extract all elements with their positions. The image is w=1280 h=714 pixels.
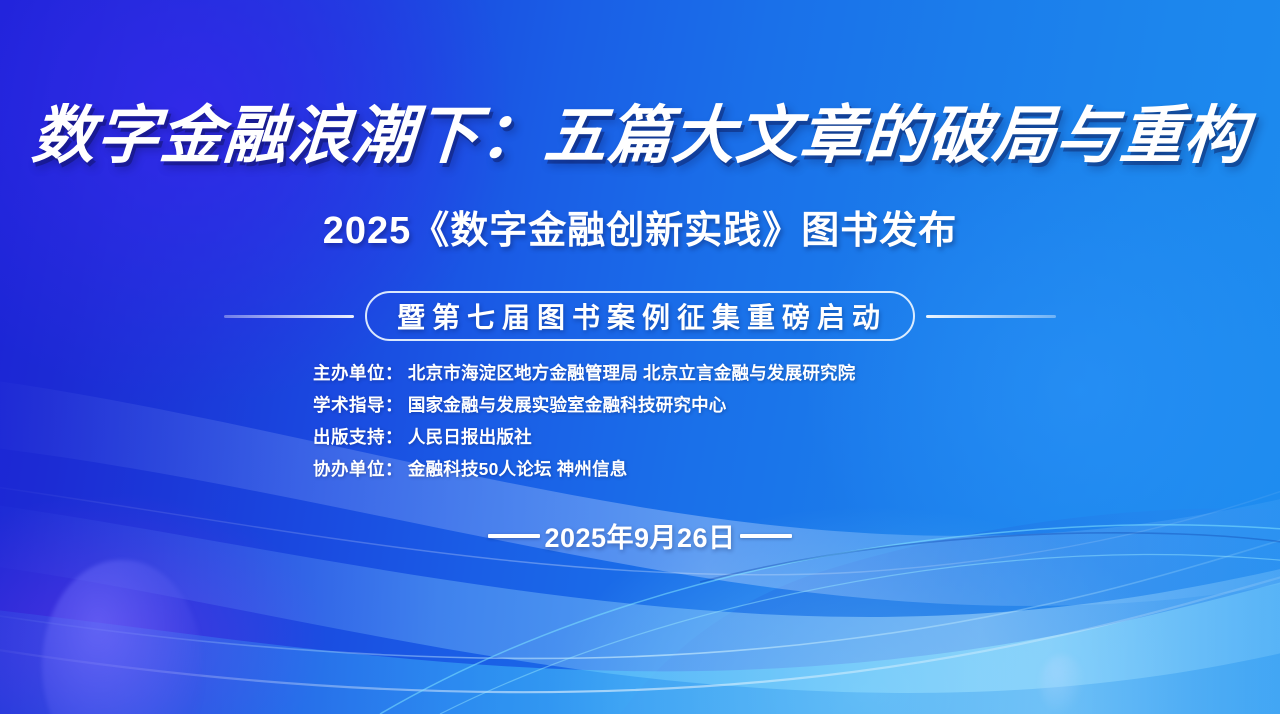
organizer-list: 主办单位： 北京市海淀区地方金融管理局 北京立言金融与发展研究院 学术指导： 国… <box>313 357 855 485</box>
event-date: 2025年9月26日 <box>542 516 737 555</box>
poster-content: 数字金融浪潮下：五篇大文章的破局与重构 2025《数字金融创新实践》图书发布 暨… <box>0 0 1280 714</box>
organizer-label: 学术指导： <box>313 395 403 415</box>
page-subtitle: 2025《数字金融创新实践》图书发布 <box>0 211 1280 253</box>
list-item: 协办单位： 金融科技50人论坛 神州信息 <box>313 453 855 485</box>
dash-right <box>740 534 792 538</box>
organizer-label: 主办单位： <box>313 363 403 383</box>
organizer-label: 出版支持： <box>313 427 403 447</box>
organizer-value: 国家金融与发展实验室金融科技研究中心 <box>408 395 727 415</box>
dash-left <box>488 534 540 538</box>
list-item: 学术指导： 国家金融与发展实验室金融科技研究中心 <box>313 389 855 421</box>
divider-line-left <box>224 315 354 318</box>
banner-pill-label: 暨第七届图书案例征集重磅启动 <box>393 296 887 336</box>
event-date-row: 2025年9月26日 <box>0 516 1280 555</box>
banner-pill: 暨第七届图书案例征集重磅启动 <box>365 291 915 341</box>
organizer-value: 金融科技50人论坛 神州信息 <box>408 459 628 479</box>
list-item: 主办单位： 北京市海淀区地方金融管理局 北京立言金融与发展研究院 <box>313 357 855 389</box>
organizer-value: 北京市海淀区地方金融管理局 北京立言金融与发展研究院 <box>408 363 856 383</box>
divider-line-right <box>926 315 1056 318</box>
organizer-value: 人民日报出版社 <box>408 427 532 447</box>
organizer-label: 协办单位： <box>313 459 403 479</box>
poster-canvas: 数字金融浪潮下：五篇大文章的破局与重构 2025《数字金融创新实践》图书发布 暨… <box>0 0 1280 714</box>
banner-row: 暨第七届图书案例征集重磅启动 <box>0 291 1280 341</box>
list-item: 出版支持： 人民日报出版社 <box>313 421 855 453</box>
page-title: 数字金融浪潮下：五篇大文章的破局与重构 <box>0 104 1280 167</box>
